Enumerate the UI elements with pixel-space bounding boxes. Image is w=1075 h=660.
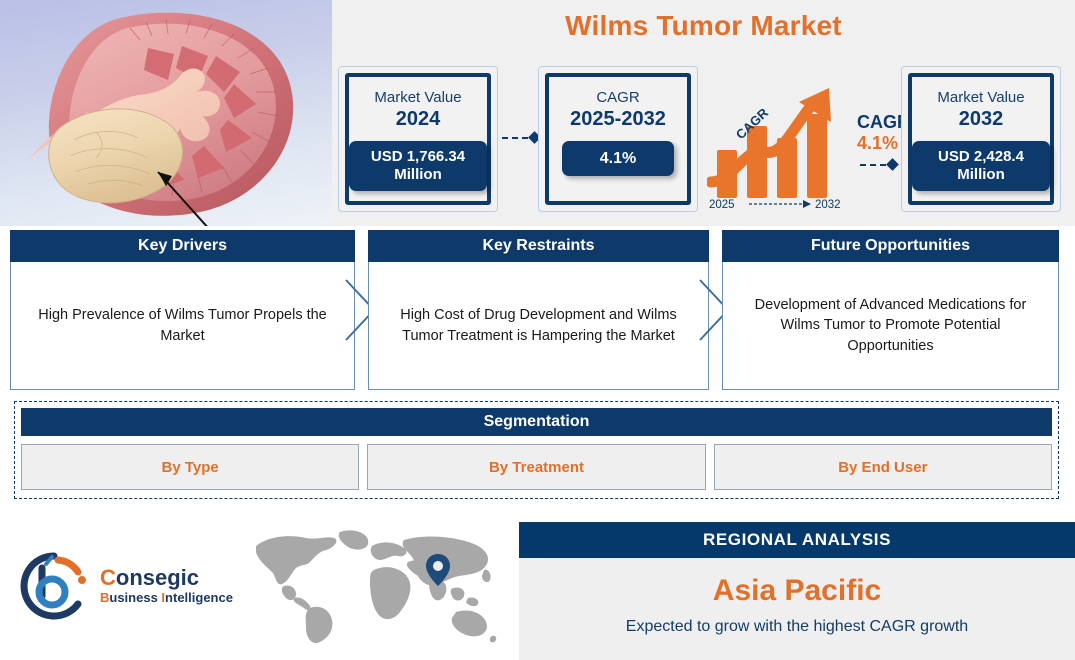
connector-diamond — [886, 158, 899, 171]
segmentation-item-by-treatment[interactable]: By Treatment — [367, 444, 705, 490]
brand-tagline-b: B — [100, 590, 109, 605]
page-title: Wilms Tumor Market — [332, 10, 1075, 42]
panel-future-opportunities-text: Development of Advanced Medications for … — [737, 295, 1044, 357]
regional-analysis-heading: REGIONAL ANALYSIS — [519, 522, 1075, 558]
chart-end-year: 2032 — [815, 199, 841, 210]
cagr-period: 2025-2032 — [570, 107, 666, 131]
panel-key-drivers-text: High Prevalence of Wilms Tumor Propels t… — [25, 305, 340, 346]
brand-wordmark: Consegic Business Intelligence — [100, 566, 233, 605]
insight-panels: Key Drivers High Prevalence of Wilms Tum… — [0, 230, 1075, 395]
panel-key-drivers: Key Drivers High Prevalence of Wilms Tum… — [10, 230, 355, 390]
segmentation-items: By Type By Treatment By End User — [21, 444, 1052, 490]
panel-future-opportunities-body: Development of Advanced Medications for … — [722, 262, 1059, 390]
footer-band: Consegic Business Intelligence — [0, 508, 1075, 660]
growth-chart-icon: CAGR 2025 2032 — [707, 78, 857, 210]
brand-tagline-usiness: usiness — [109, 590, 161, 605]
market-value-2024-value: USD 1,766.34 Million — [349, 141, 487, 191]
connector-2024-to-cagr — [502, 133, 539, 142]
panel-key-restraints-text: High Cost of Drug Development and Wilms … — [383, 305, 694, 346]
cagr-value: 4.1% — [562, 141, 674, 176]
panel-key-drivers-body: High Prevalence of Wilms Tumor Propels t… — [10, 262, 355, 390]
brand-name-initial: C — [100, 565, 116, 590]
brand-tagline: Business Intelligence — [100, 591, 233, 605]
brand-tagline-ntelligence: ntelligence — [165, 590, 233, 605]
segmentation-item-by-end-user[interactable]: By End User — [714, 444, 1052, 490]
panel-key-drivers-heading: Key Drivers — [10, 230, 355, 262]
kidney-illustration-panel — [0, 0, 332, 226]
segmentation-heading: Segmentation — [21, 408, 1052, 436]
cagr-card: CAGR 2025-2032 4.1% — [538, 66, 698, 212]
market-value-2032-value: USD 2,428.4 Million — [912, 141, 1050, 191]
market-value-2024-card: Market Value 2024 USD 1,766.34 Million — [338, 66, 498, 212]
panel-key-restraints-body: High Cost of Drug Development and Wilms … — [368, 262, 709, 390]
cagr-label: CAGR — [596, 89, 639, 106]
panel-future-opportunities-heading: Future Opportunities — [722, 230, 1059, 262]
regional-analysis-card: REGIONAL ANALYSIS Asia Pacific Expected … — [519, 522, 1075, 660]
connector-cagr-to-2032 — [860, 160, 897, 169]
hero-metrics-area: Wilms Tumor Market Market Value 2024 USD… — [332, 0, 1075, 226]
connector-line — [860, 164, 886, 166]
chart-axis-arrow — [803, 200, 811, 208]
brand-name-rest: onsegic — [116, 565, 199, 590]
hero-band: Wilms Tumor Market Market Value 2024 USD… — [0, 0, 1075, 226]
world-map-graphic — [248, 526, 498, 646]
brand-logo: Consegic Business Intelligence — [18, 550, 233, 622]
segmentation-item-by-type[interactable]: By Type — [21, 444, 359, 490]
market-value-2032-card: Market Value 2032 USD 2,428.4 Million — [901, 66, 1061, 212]
panel-key-restraints: Key Restraints High Cost of Drug Develop… — [368, 230, 709, 390]
regional-analysis-region: Asia Pacific — [519, 574, 1075, 608]
consegic-logo-mark — [18, 550, 90, 622]
continents — [256, 530, 496, 643]
panel-future-opportunities: Future Opportunities Development of Adva… — [722, 230, 1059, 390]
market-value-2032-label: Market Value — [937, 89, 1024, 106]
brand-name: Consegic — [100, 566, 233, 589]
connector-line — [502, 137, 528, 139]
panel-key-restraints-heading: Key Restraints — [368, 230, 709, 262]
kidney-cross-section-image — [0, 0, 332, 226]
regional-analysis-subtitle: Expected to grow with the highest CAGR g… — [519, 618, 1075, 636]
market-value-2024-year: 2024 — [396, 107, 441, 131]
market-value-2032-year: 2032 — [959, 107, 1004, 131]
market-value-2024-label: Market Value — [374, 89, 461, 106]
segmentation-section: Segmentation By Type By Treatment By End… — [14, 401, 1059, 499]
chart-start-year: 2025 — [709, 199, 735, 210]
infographic-page: Wilms Tumor Market Market Value 2024 USD… — [0, 0, 1075, 660]
